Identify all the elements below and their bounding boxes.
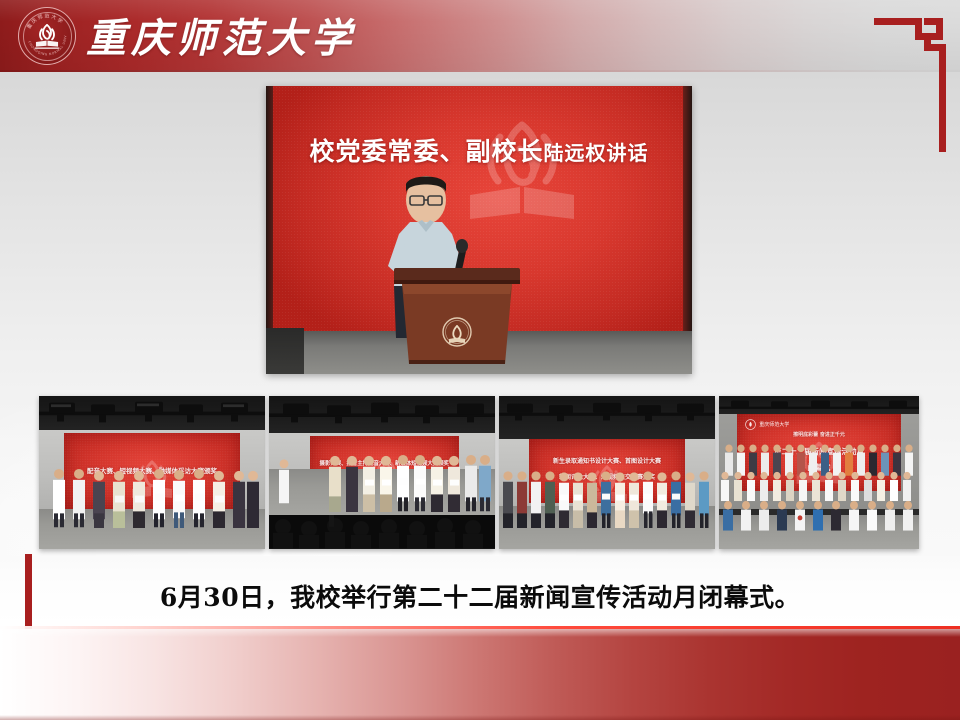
university-seal-icon: 重庆师范大学 CHONGQING NORMAL UNIVERSITY [18,7,76,65]
main-photo: 校党委常委、副校长陆远权讲话 [266,86,692,374]
lighting-rig-icon-1 [39,399,265,430]
people-group-2 [269,451,495,512]
screen-logo-text-4: 重庆师范大学 [759,421,789,428]
lighting-rig-icon-2 [269,399,495,430]
screen-logo-group-4: 重庆师范大学 [745,419,789,430]
header-divider [0,70,960,72]
podium [394,268,520,364]
people-group-4 [719,442,919,537]
led-screen-text: 校党委常委、副校长陆远权讲话 [266,132,692,168]
wall-edge-left [266,86,273,334]
lighting-rig-icon-3 [499,399,715,430]
people-group-1 [39,466,265,527]
screen-text-name: 陆远权 [544,141,607,165]
people-group-3 [499,466,715,527]
caption-text: 6月30日，我校举行第二十二届新闻宣传活动月闭幕式。 [0,578,960,614]
svg-text:重庆师范大学: 重庆师范大学 [25,13,65,31]
wall-edge-right [683,86,692,334]
thumbnail-row: 配音大赛、短视频大赛、融媒体采访大赛颁奖 [39,396,923,549]
university-seal-icon-4 [745,419,756,430]
screen-text-suffix: 讲话 [607,141,649,165]
footer-band-shadow [0,715,960,720]
led-screen-text-3-line1: 新生录取通知书设计大赛、首图设计大赛 [529,456,685,465]
stage-floor-shadow [266,328,304,374]
audience-silhouettes-2 [269,515,495,549]
university-name: 重庆师范大学 [86,6,356,64]
screen-text-title: 校党委常委、副校长 [309,137,543,166]
header-band: 重庆师范大学 CHONGQING NORMAL UNIVERSITY [0,0,960,72]
footer-band [0,629,960,720]
slide-root: 重庆师范大学 CHONGQING NORMAL UNIVERSITY [0,0,960,720]
thumbnail-3: 新生录取通知书设计大赛、首图设计大赛 新闻评论大赛、短视频文交大赛颁奖 [499,396,715,549]
thumbnail-2: 摄影大赛、播音主持配音大赛、新媒体短视频大赛颁奖 [269,396,495,549]
led-screen-text-4-top: 擦明底彩蕾 奋进正千元 [737,431,901,438]
thumbnail-1: 配音大赛、短视频大赛、融媒体采访大赛颁奖 [39,396,265,549]
seal-ring-text-icon: 重庆师范大学 CHONGQING NORMAL UNIVERSITY [19,8,75,64]
corner-ornament-icon-top-right [872,8,950,156]
footer-band-highlight [0,629,960,637]
thumbnail-4: 重庆师范大学 擦明底彩蕾 奋进正千元 第二十二届新闻宣传活动月 闭幕式 [719,396,919,549]
